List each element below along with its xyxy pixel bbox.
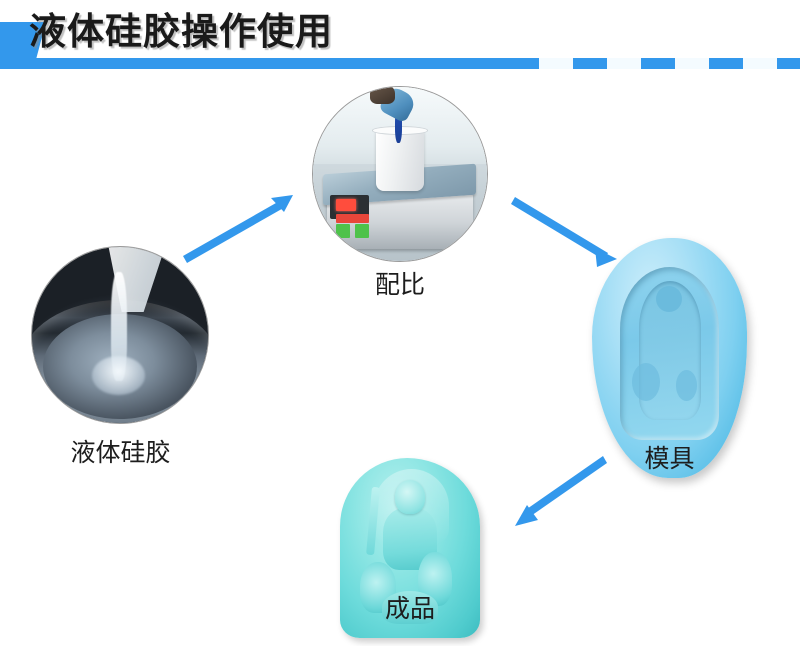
flow-node-label-ratio: 配比 xyxy=(305,270,495,300)
cyan-buddha-figurine-photo xyxy=(340,458,454,583)
flow-node-label-product: 成品 xyxy=(340,594,480,624)
header-rule-dash-overlay xyxy=(505,58,800,69)
flow-node-liquid-silicone: 液体硅胶 xyxy=(18,246,223,496)
flow-node-label-mold: 模具 xyxy=(592,444,747,474)
flow-node-ratio: 配比 xyxy=(305,86,495,308)
flow-node-label-liquid-silicone: 液体硅胶 xyxy=(18,438,223,468)
flow-node-mold: 模具 xyxy=(592,238,747,478)
page-title: 液体硅胶操作使用 xyxy=(29,9,333,54)
weighing-scale-mixing-photo xyxy=(312,86,488,262)
flow-node-product: 成品 xyxy=(340,458,480,638)
liquid-silicone-pouring-photo xyxy=(31,246,209,424)
blue-silicone-mold-photo xyxy=(592,238,720,436)
page-header: 液体硅胶操作使用 xyxy=(0,0,800,80)
